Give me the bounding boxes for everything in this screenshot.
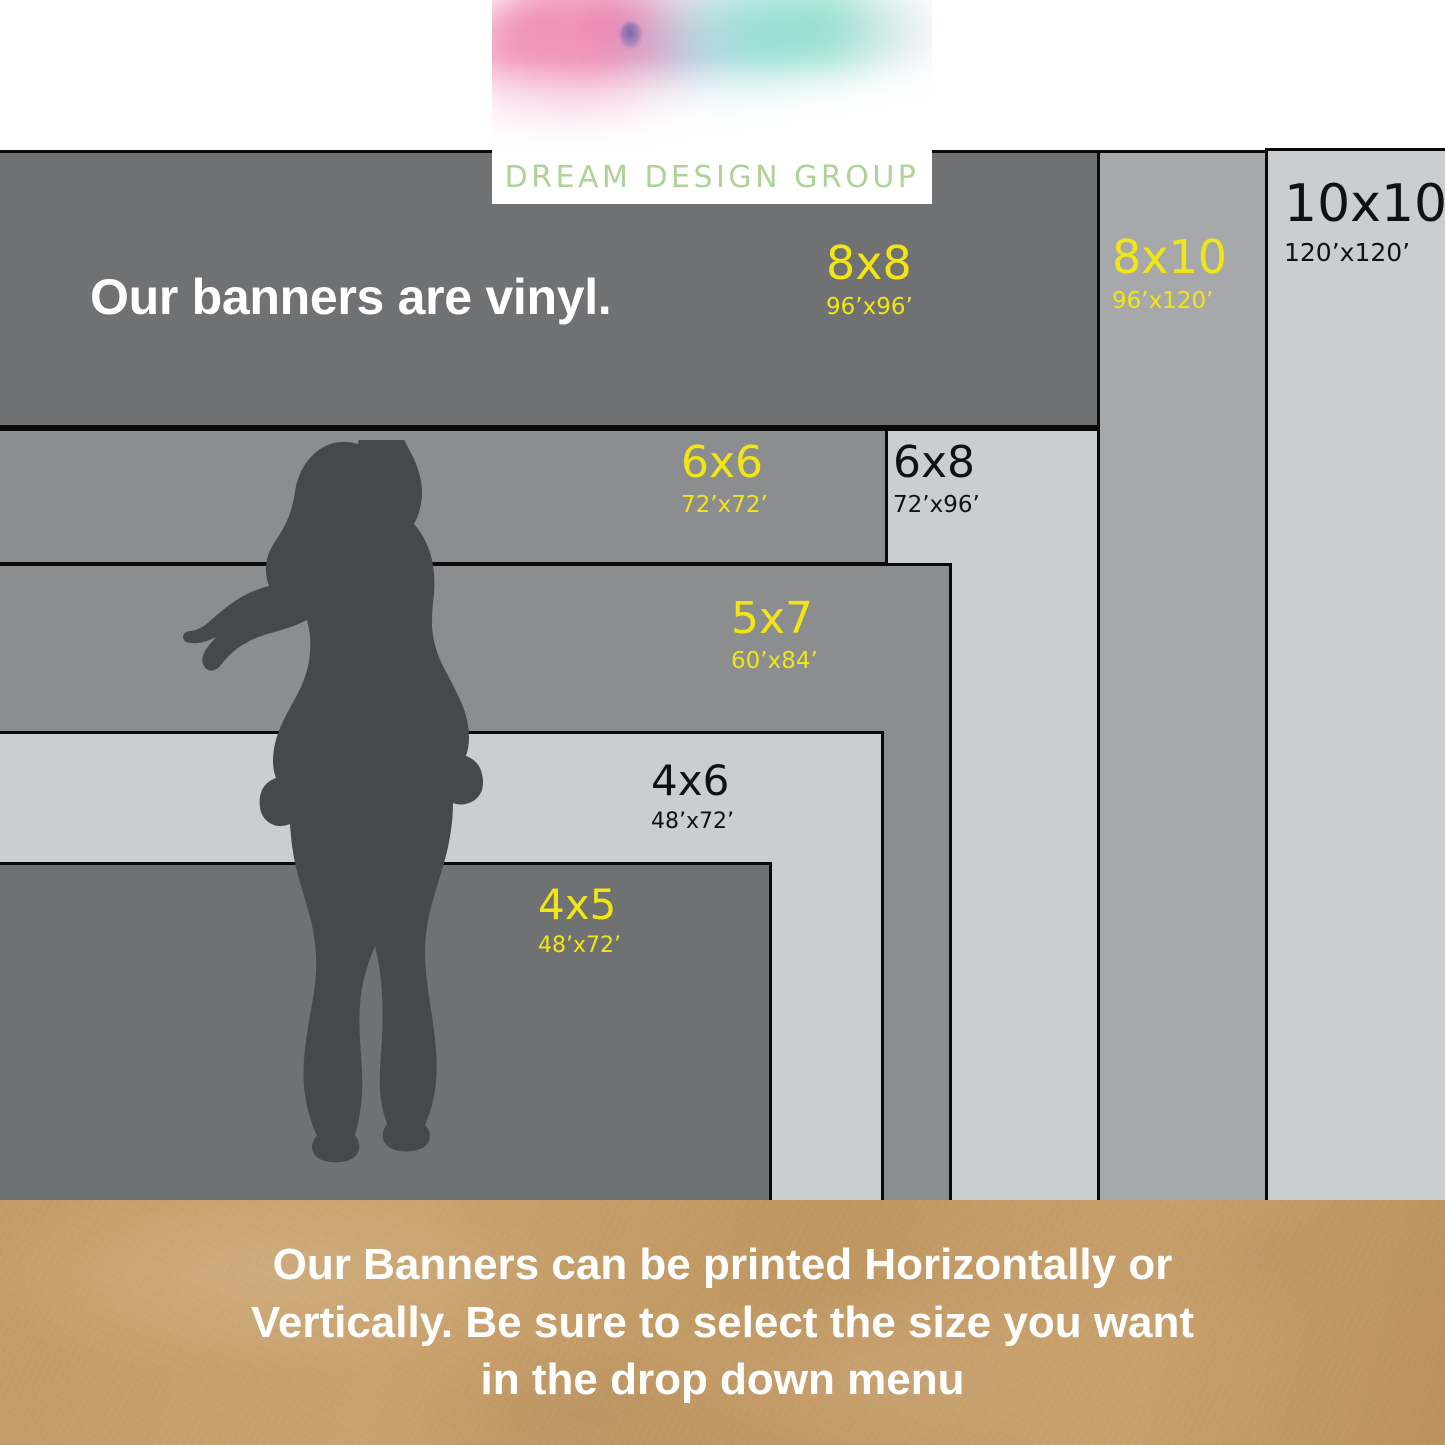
brand-name-text: DREAM DESIGN GROUP <box>505 160 920 195</box>
size-label-6x8-inches: 72’x96’ <box>893 494 980 517</box>
brand-logo-plate: DREAM DESIGN GROUP <box>492 150 932 204</box>
footer-line-3: in the drop down menu <box>481 1353 965 1407</box>
size-label-4x5-title: 4x5 <box>538 884 621 926</box>
size-label-8x8-inches: 96’x96’ <box>826 296 913 319</box>
size-label-8x10-inches: 96’x120’ <box>1112 290 1227 313</box>
watercolor-dot-icon <box>620 22 642 48</box>
footer-line-2: Vertically. Be sure to select the size y… <box>251 1296 1194 1350</box>
headline-text: Our banners are vinyl. <box>90 268 611 326</box>
footer-banner: Our Banners can be printed Horizontally … <box>0 1200 1445 1445</box>
banner-size-comparison-graphic: Our banners are vinyl. 10x10 120’x120’ 8… <box>0 0 1445 1445</box>
size-label-6x8: 6x8 72’x96’ <box>893 441 980 517</box>
size-label-10x10-title: 10x10 <box>1284 178 1445 230</box>
footer-line-1: Our Banners can be printed Horizontally … <box>273 1238 1173 1292</box>
size-label-5x7: 5x7 60’x84’ <box>731 597 818 673</box>
size-label-4x6-inches: 48’x72’ <box>651 811 734 833</box>
size-label-4x6: 4x6 48’x72’ <box>651 760 734 833</box>
size-label-5x7-inches: 60’x84’ <box>731 650 818 673</box>
size-label-8x8-title: 8x8 <box>826 240 913 286</box>
footer-text: Our Banners can be printed Horizontally … <box>0 1200 1445 1445</box>
size-label-8x10-title: 8x10 <box>1112 234 1227 280</box>
size-label-6x6-inches: 72’x72’ <box>681 494 768 517</box>
size-label-6x8-title: 6x8 <box>893 441 980 485</box>
watercolor-splash-icon <box>492 0 932 150</box>
size-label-5x7-title: 5x7 <box>731 597 818 641</box>
size-rect-10x10[interactable] <box>1265 148 1445 1203</box>
size-label-10x10-inches: 120’x120’ <box>1284 240 1445 265</box>
size-label-8x8: 8x8 96’x96’ <box>826 240 913 319</box>
size-label-4x5-inches: 48’x72’ <box>538 935 621 957</box>
woman-silhouette-icon <box>180 440 500 1220</box>
size-label-10x10: 10x10 120’x120’ <box>1284 178 1445 265</box>
size-label-6x6-title: 6x6 <box>681 441 768 485</box>
size-label-4x5: 4x5 48’x72’ <box>538 884 621 957</box>
size-label-6x6: 6x6 72’x72’ <box>681 441 768 517</box>
size-label-4x6-title: 4x6 <box>651 760 734 802</box>
size-label-8x10: 8x10 96’x120’ <box>1112 234 1227 313</box>
